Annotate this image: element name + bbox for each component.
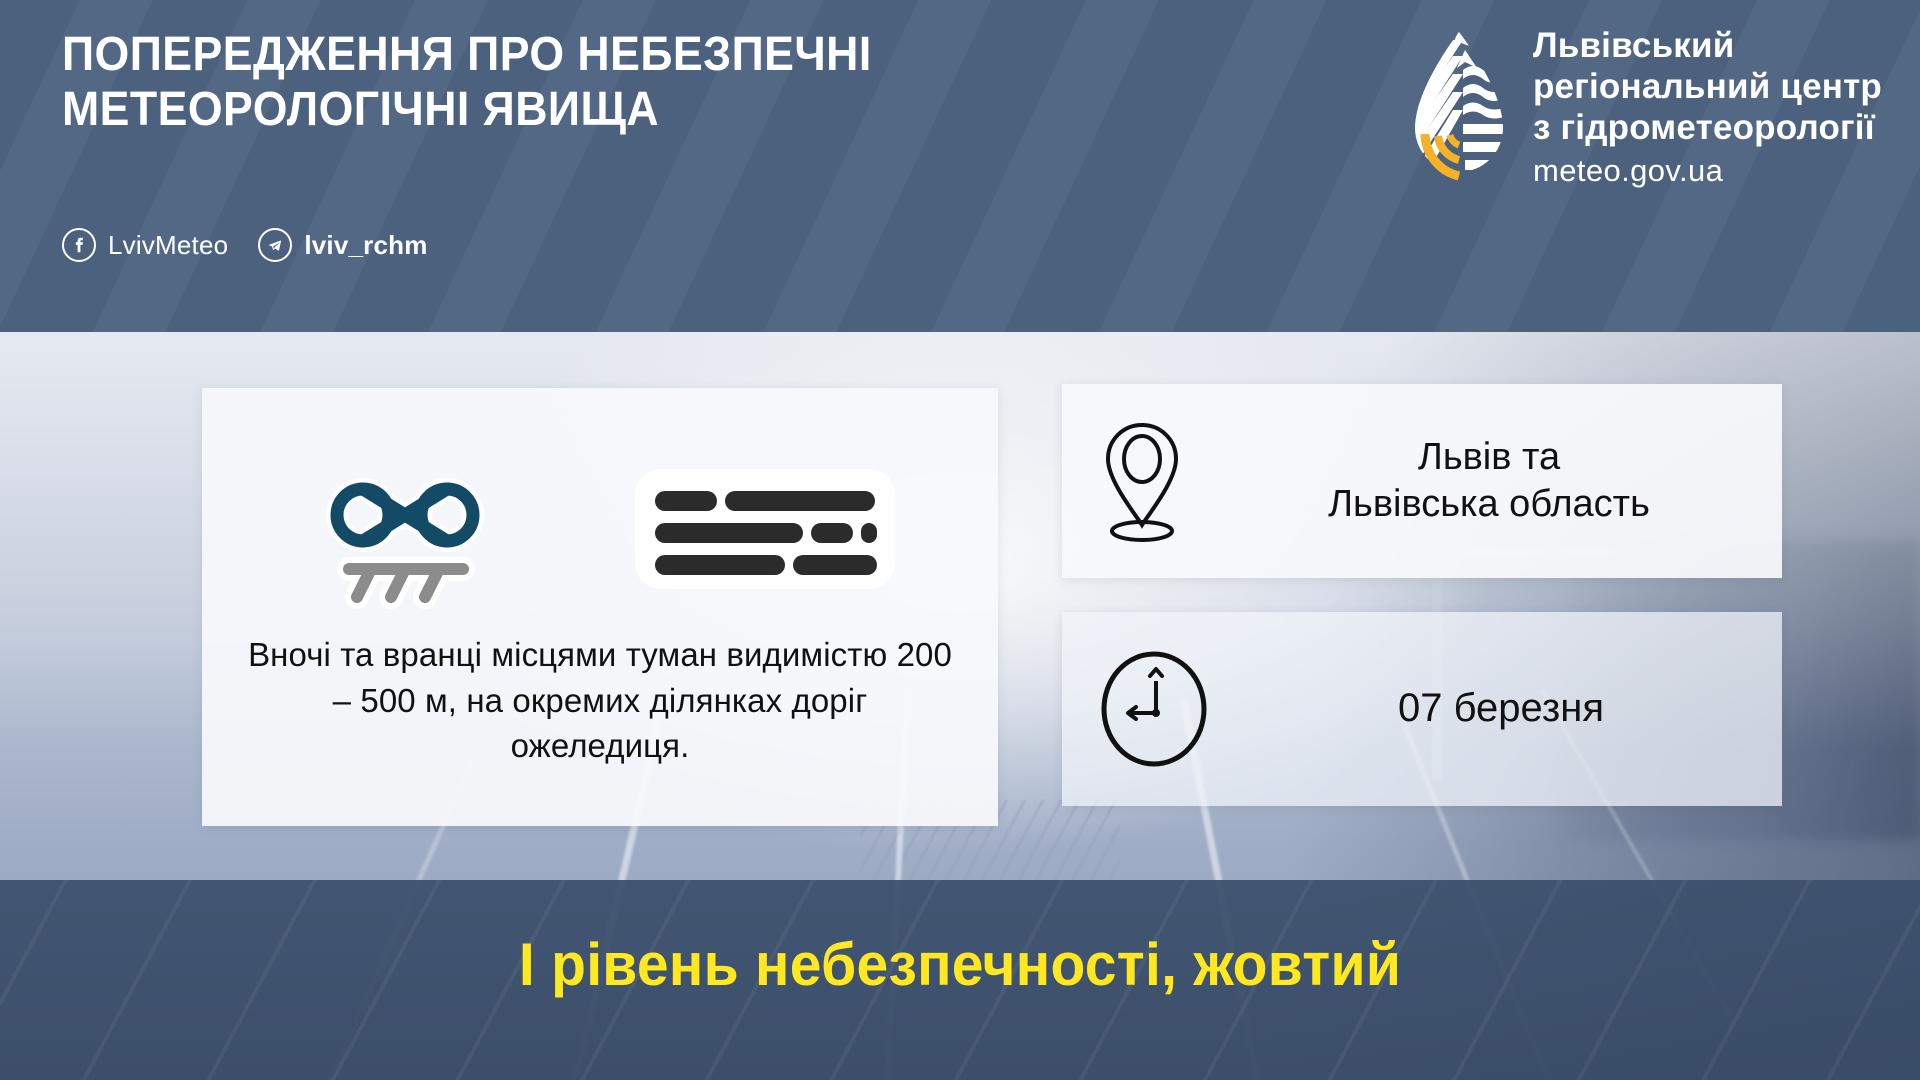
logo-line-2: регіональний центр <box>1533 67 1882 108</box>
page-title-line2: МЕТЕОРОЛОГІЧНІ ЯВИЩА <box>62 83 992 138</box>
social-links: LvivMeteo lviv_rchm <box>62 228 428 262</box>
social-link-facebook[interactable]: LvivMeteo <box>62 228 228 262</box>
phenomena-icons <box>305 444 895 614</box>
telegram-handle: lviv_rchm <box>304 230 427 261</box>
map-pin-icon <box>1098 419 1186 543</box>
page-title: ПОПЕРЕДЖЕННЯ ПРО НЕБЕЗПЕЧНІ МЕТЕОРОЛОГІЧ… <box>62 28 992 137</box>
date-text: 07 березня <box>1250 684 1782 734</box>
page-title-line1: ПОПЕРЕДЖЕННЯ ПРО НЕБЕЗПЕЧНІ <box>62 28 992 83</box>
location-line-2: Львівська область <box>1226 481 1752 528</box>
black-ice-icon <box>305 445 505 613</box>
footer-banner: І рівень небезпечності, жовтий <box>0 880 1920 1080</box>
location-line-1: Львів та <box>1226 434 1752 481</box>
clock-icon <box>1098 647 1210 771</box>
location-card: Львів та Львівська область <box>1062 384 1782 578</box>
header-banner: ПОПЕРЕДЖЕННЯ ПРО НЕБЕЗПЕЧНІ МЕТЕОРОЛОГІЧ… <box>0 0 1920 332</box>
fog-icon <box>635 469 895 589</box>
logo-line-1: Львівський <box>1533 26 1882 67</box>
facebook-icon <box>62 228 96 262</box>
date-card: 07 березня <box>1062 612 1782 806</box>
logo-line-3: з гідрометеорології <box>1533 108 1882 149</box>
danger-level-text: І рівень небезпечності, жовтий <box>48 930 1872 999</box>
social-link-telegram[interactable]: lviv_rchm <box>258 228 427 262</box>
location-text: Львів та Львівська область <box>1226 434 1782 528</box>
warning-description: Вночі та вранці місцями туман видимістю … <box>202 632 998 769</box>
organization-logo: Львівський регіональний центр з гідромет… <box>1407 26 1882 191</box>
logo-website[interactable]: meteo.gov.ua <box>1533 151 1882 191</box>
facebook-handle: LvivMeteo <box>108 230 228 261</box>
droplet-logo-icon <box>1407 30 1511 182</box>
warning-card: Вночі та вранці місцями туман видимістю … <box>202 388 998 826</box>
telegram-icon <box>258 228 292 262</box>
weather-warning-poster: ПОПЕРЕДЖЕННЯ ПРО НЕБЕЗПЕЧНІ МЕТЕОРОЛОГІЧ… <box>0 0 1920 1080</box>
logo-text-block: Львівський регіональний центр з гідромет… <box>1533 26 1882 191</box>
